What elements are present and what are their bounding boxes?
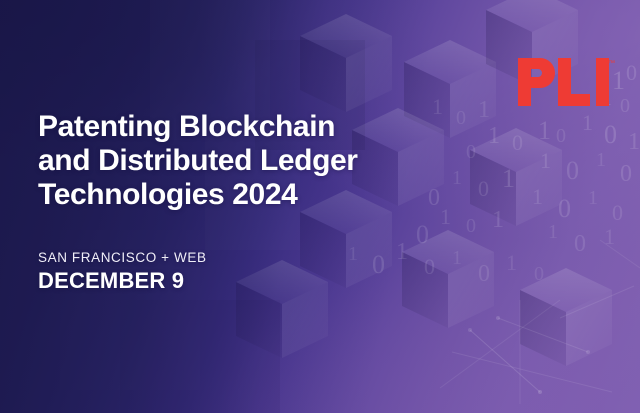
pli-logo-mark [516, 56, 616, 108]
event-promo-banner: 1010101010101010101010101010101101010101… [0, 0, 640, 413]
title-line-3: Technologies 2024 [38, 178, 458, 212]
event-meta: SAN FRANCISCO + WEB DECEMBER 9 [38, 250, 458, 293]
event-date: DECEMBER 9 [38, 268, 458, 293]
event-location: SAN FRANCISCO + WEB [38, 250, 458, 265]
trademark-symbol: ™ [608, 60, 615, 67]
page-title: Patenting Blockchain and Distributed Led… [38, 110, 458, 212]
banner-content: Patenting Blockchain and Distributed Led… [38, 110, 458, 293]
title-line-2: and Distributed Ledger [38, 144, 458, 178]
pli-logo[interactable]: ™ [516, 56, 616, 108]
title-line-1: Patenting Blockchain [38, 110, 458, 144]
